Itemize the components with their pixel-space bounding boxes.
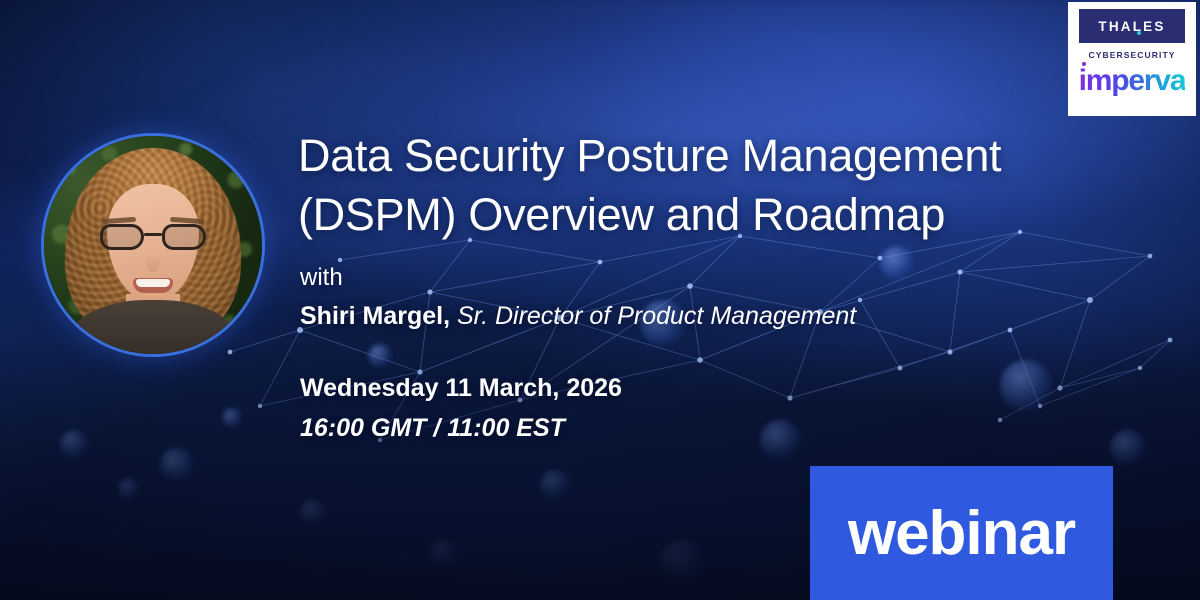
thales-wordmark: THALES — [1098, 19, 1165, 34]
thales-logo: THALES — [1079, 9, 1185, 43]
imperva-dot-icon — [1082, 62, 1086, 66]
page-title-line-2: (DSPM) Overview and Roadmap — [298, 185, 1148, 244]
thales-tagline: CYBERSECURITY — [1088, 50, 1175, 60]
with-label: with — [300, 264, 343, 292]
event-time: 16:00 GMT / 11:00 EST — [300, 414, 565, 443]
avatar-glasses-lens-right — [162, 224, 206, 250]
avatar-glasses — [100, 224, 206, 250]
speaker-name: Shiri Margel, — [300, 302, 450, 330]
speaker-line: Shiri Margel, Sr. Director of Product Ma… — [300, 302, 856, 331]
webinar-badge: webinar — [810, 466, 1113, 600]
imperva-logo: imperva — [1079, 66, 1186, 96]
webinar-badge-label: webinar — [848, 503, 1075, 565]
avatar-mouth — [133, 278, 173, 293]
webinar-banner: Data Security Posture Management (DSPM) … — [0, 0, 1200, 600]
speaker-role: Sr. Director of Product Management — [457, 302, 856, 330]
avatar-teeth — [136, 279, 170, 287]
avatar-glasses-lens-left — [100, 224, 144, 250]
brand-logo-lockup: THALES CYBERSECURITY imperva — [1068, 2, 1196, 116]
event-date: Wednesday 11 March, 2026 — [300, 374, 622, 403]
avatar-glasses-bridge — [144, 233, 162, 236]
imperva-wordmark: imperva — [1079, 64, 1186, 97]
avatar-nose — [146, 254, 160, 272]
avatar — [44, 136, 262, 354]
page-title: Data Security Posture Management (DSPM) … — [298, 126, 1148, 245]
thales-accent-dot-icon — [1137, 31, 1141, 35]
page-title-line-1: Data Security Posture Management — [298, 126, 1148, 185]
